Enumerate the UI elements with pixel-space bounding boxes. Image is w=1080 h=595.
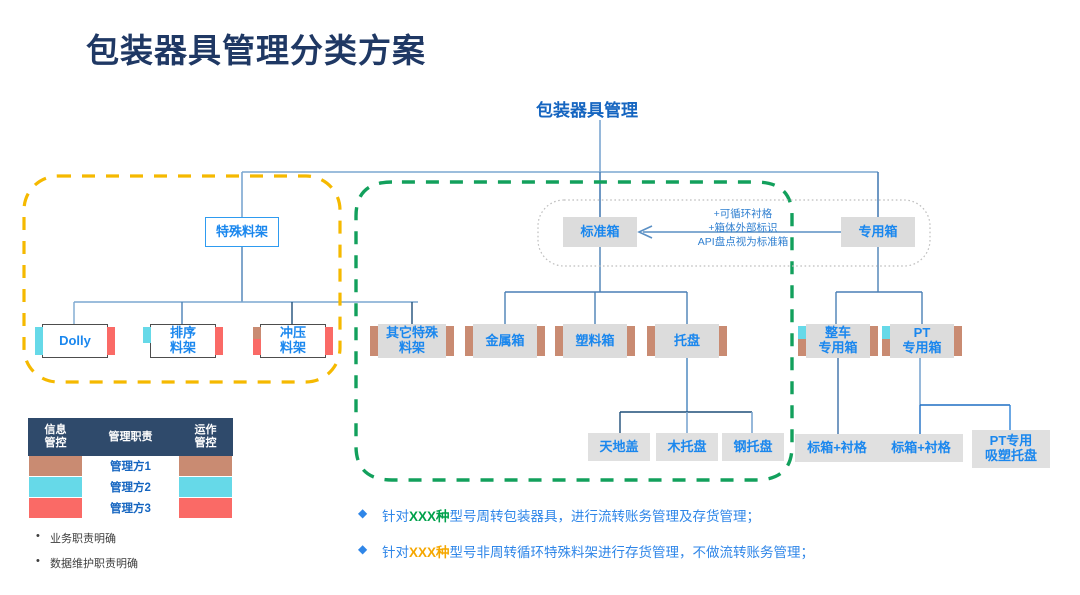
legend-row: 管理方3 — [29, 498, 233, 519]
page-title: 包装器具管理分类方案 — [86, 24, 426, 72]
node-sort-rack[interactable]: 排序 料架 — [150, 324, 216, 358]
bullet-note-text: 数据维护职责明确 — [50, 558, 138, 570]
legend-row-label: 管理方2 — [83, 477, 179, 498]
chip-operation-control — [446, 326, 454, 356]
diamond-note-suffix: 型号周转包装器具，进行流转账务管理及存货管理； — [450, 509, 761, 524]
node-dedicated-box-label: 专用箱 — [858, 225, 897, 240]
legend-header-duty: 管理职责 — [83, 419, 179, 456]
legend-swatch-operation — [179, 456, 233, 477]
chip-info-control-2 — [798, 339, 806, 356]
node-tiandi-cover[interactable]: 天地盖 — [588, 433, 650, 461]
legend-row-label: 管理方1 — [83, 456, 179, 477]
chip-info-control — [647, 326, 655, 356]
node-metal-box[interactable]: 金属箱 — [473, 324, 537, 358]
chip-operation-control — [954, 326, 962, 356]
node-pt-blister-pallet-label: PT专用 吸塑托盘 — [985, 434, 1037, 463]
root-node-label: 包装器具管理 — [536, 96, 638, 121]
node-pt-box[interactable]: PT 专用箱 — [890, 324, 954, 358]
diamond-note-item: ◆ 针对XXX种型号非周转循环特殊料架进行存货管理，不做流转账务管理； — [358, 541, 814, 561]
legend-row-label: 管理方3 — [83, 498, 179, 519]
chip-operation-control — [537, 326, 545, 356]
node-plastic-box-label: 塑料箱 — [575, 334, 614, 349]
chip-info-control — [370, 326, 378, 356]
bullet-note-item: • 数据维护职责明确 — [32, 555, 138, 571]
legend-table: 信息 管控 管理职责 运作 管控 管理方1 管理方2 管理方3 — [28, 418, 233, 519]
bullet-marker: • — [36, 530, 40, 542]
node-std-liner-2[interactable]: 标箱+衬格 — [879, 434, 963, 462]
node-stamp-rack[interactable]: 冲压 料架 — [260, 324, 326, 358]
node-pt-box-label: PT 专用箱 — [902, 326, 941, 355]
chip-info-control-2 — [882, 339, 890, 356]
diamond-marker: ◆ — [358, 506, 367, 520]
legend-swatch-operation — [179, 498, 233, 519]
node-standard-box[interactable]: 标准箱 — [563, 217, 637, 247]
node-wood-pallet-label: 木托盘 — [667, 440, 706, 455]
chip-operation-control — [107, 327, 115, 355]
bullet-notes: • 业务职责明确 • 数据维护职责明确 — [32, 530, 138, 580]
diamond-note-highlight: XXX种 — [409, 545, 450, 560]
legend-swatch-info — [29, 456, 83, 477]
node-pt-blister-pallet[interactable]: PT专用 吸塑托盘 — [972, 430, 1050, 468]
node-special-rack-label: 特殊料架 — [216, 225, 268, 240]
node-tiandi-cover-label: 天地盖 — [599, 440, 638, 455]
node-std-liner-2-label: 标箱+衬格 — [891, 441, 951, 456]
legend-row: 管理方1 — [29, 456, 233, 477]
legend-swatch-info — [29, 498, 83, 519]
node-pallet-label: 托盘 — [674, 334, 700, 349]
legend-header-operation: 运作 管控 — [179, 419, 233, 456]
diamond-note-prefix: 针对 — [382, 509, 409, 524]
node-standard-box-label: 标准箱 — [580, 225, 619, 240]
legend-swatch-info — [29, 477, 83, 498]
node-pallet[interactable]: 托盘 — [655, 324, 719, 358]
node-steel-pallet[interactable]: 钢托盘 — [722, 433, 784, 461]
legend-swatch-operation — [179, 477, 233, 498]
diamond-note-item: ◆ 针对XXX种型号周转包装器具，进行流转账务管理及存货管理； — [358, 505, 814, 525]
node-dolly-label: Dolly — [59, 334, 91, 349]
bullet-note-text: 业务职责明确 — [50, 533, 116, 545]
node-sort-rack-label: 排序 料架 — [170, 326, 196, 355]
node-std-liner-1-label: 标箱+衬格 — [807, 441, 867, 456]
bullet-marker: • — [36, 555, 40, 567]
node-stamp-rack-label: 冲压 料架 — [280, 326, 306, 355]
diamond-notes: ◆ 针对XXX种型号周转包装器具，进行流转账务管理及存货管理； ◆ 针对XXX种… — [358, 505, 814, 577]
node-std-liner-1[interactable]: 标箱+衬格 — [795, 434, 879, 462]
diamond-marker: ◆ — [358, 542, 367, 556]
transform-annotation: +可循环衬格 +箱体外部标识 API盘点视为标准箱 — [648, 208, 838, 250]
chip-operation-control — [325, 327, 333, 355]
node-plastic-box[interactable]: 塑料箱 — [563, 324, 627, 358]
legend-header-row: 信息 管控 管理职责 运作 管控 — [29, 419, 233, 456]
chip-operation-control — [215, 327, 223, 355]
node-other-special-rack-label: 其它特殊 料架 — [386, 326, 438, 355]
chip-operation-control — [627, 326, 635, 356]
node-wood-pallet[interactable]: 木托盘 — [656, 433, 718, 461]
node-dedicated-box[interactable]: 专用箱 — [841, 217, 915, 247]
diamond-note-prefix: 针对 — [382, 545, 409, 560]
node-vehicle-box-label: 整车 专用箱 — [818, 326, 857, 355]
diamond-note-highlight: XXX种 — [409, 509, 450, 524]
chip-info-control-2 — [253, 339, 261, 355]
chip-info-control — [555, 326, 563, 356]
chip-operation-control — [719, 326, 727, 356]
chip-info-control — [35, 327, 43, 355]
node-metal-box-label: 金属箱 — [485, 334, 524, 349]
diamond-note-suffix: 型号非周转循环特殊料架进行存货管理，不做流转账务管理； — [450, 545, 815, 560]
node-steel-pallet-label: 钢托盘 — [733, 440, 772, 455]
chip-operation-control — [870, 326, 878, 356]
legend-row: 管理方2 — [29, 477, 233, 498]
node-dolly[interactable]: Dolly — [42, 324, 108, 358]
node-vehicle-box[interactable]: 整车 专用箱 — [806, 324, 870, 358]
bullet-note-item: • 业务职责明确 — [32, 530, 138, 546]
legend-header-info: 信息 管控 — [29, 419, 83, 456]
chip-info-control — [143, 327, 151, 343]
node-special-rack[interactable]: 特殊料架 — [205, 217, 279, 247]
chip-info-control — [465, 326, 473, 356]
node-other-special-rack[interactable]: 其它特殊 料架 — [378, 324, 446, 358]
